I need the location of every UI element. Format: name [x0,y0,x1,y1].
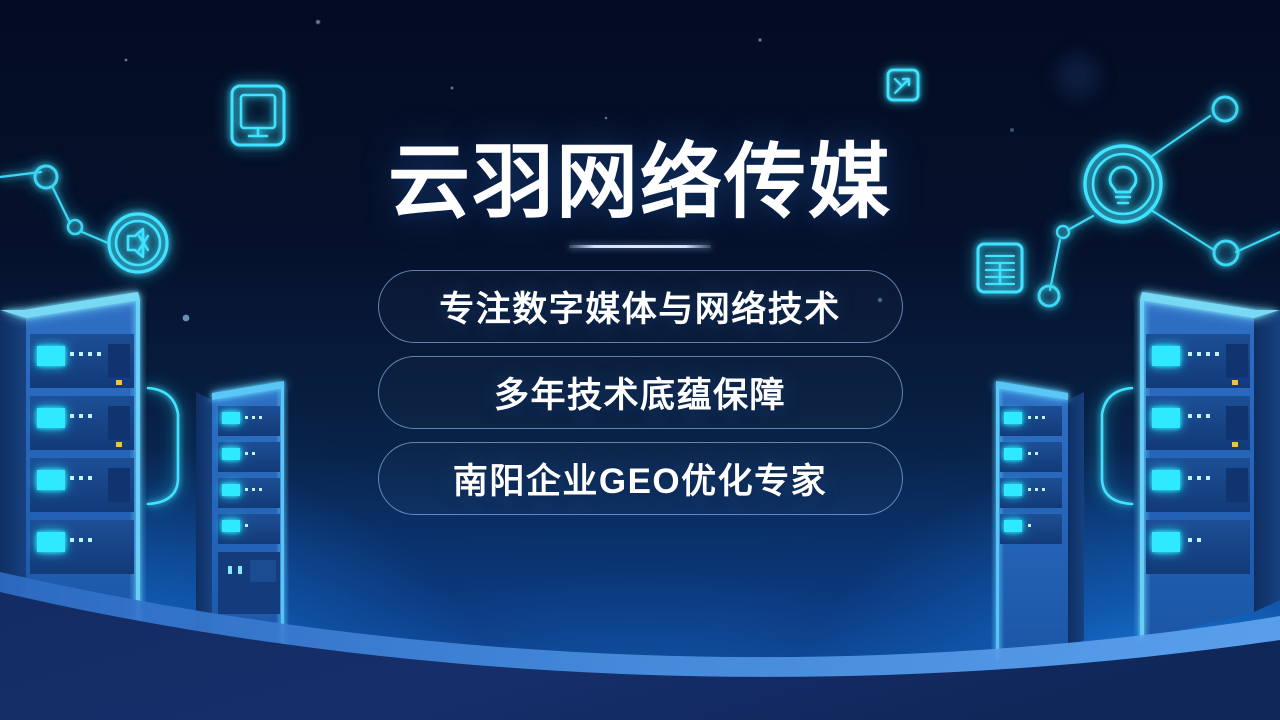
lightbulb-icon [1085,146,1161,222]
poster-canvas: 云羽网络传媒 专注数字媒体与网络技术 多年技术底蕴保障 南阳企业GEO优化专家 [0,0,1280,720]
server-rack [996,381,1084,660]
wave-band [0,572,1280,720]
tagline-pill-1[interactable]: 专注数字媒体与网络技术 [378,270,903,343]
speaker-icon [109,214,167,272]
tagline-label: 南阳企业GEO优化专家 [453,453,827,504]
tagline-list: 专注数字媒体与网络技术 多年技术底蕴保障 南阳企业GEO优化专家 [378,270,903,515]
network-node-graph-left [0,166,108,243]
shuffle-arrow-icon [888,70,918,100]
document-lines-icon [978,244,1022,292]
network-node-graph-right [1039,97,1280,306]
tagline-pill-2[interactable]: 多年技术底蕴保障 [378,356,903,429]
server-rack [1140,292,1280,640]
page-title: 云羽网络传媒 [388,141,892,225]
tablet-icon [232,86,284,145]
title-underline [569,245,711,248]
tagline-pill-3[interactable]: 南阳企业GEO优化专家 [378,442,903,515]
server-rack-cluster-right [996,292,1280,660]
tagline-label: 专注数字媒体与网络技术 [439,281,841,332]
tagline-label: 多年技术底蕴保障 [494,367,786,418]
